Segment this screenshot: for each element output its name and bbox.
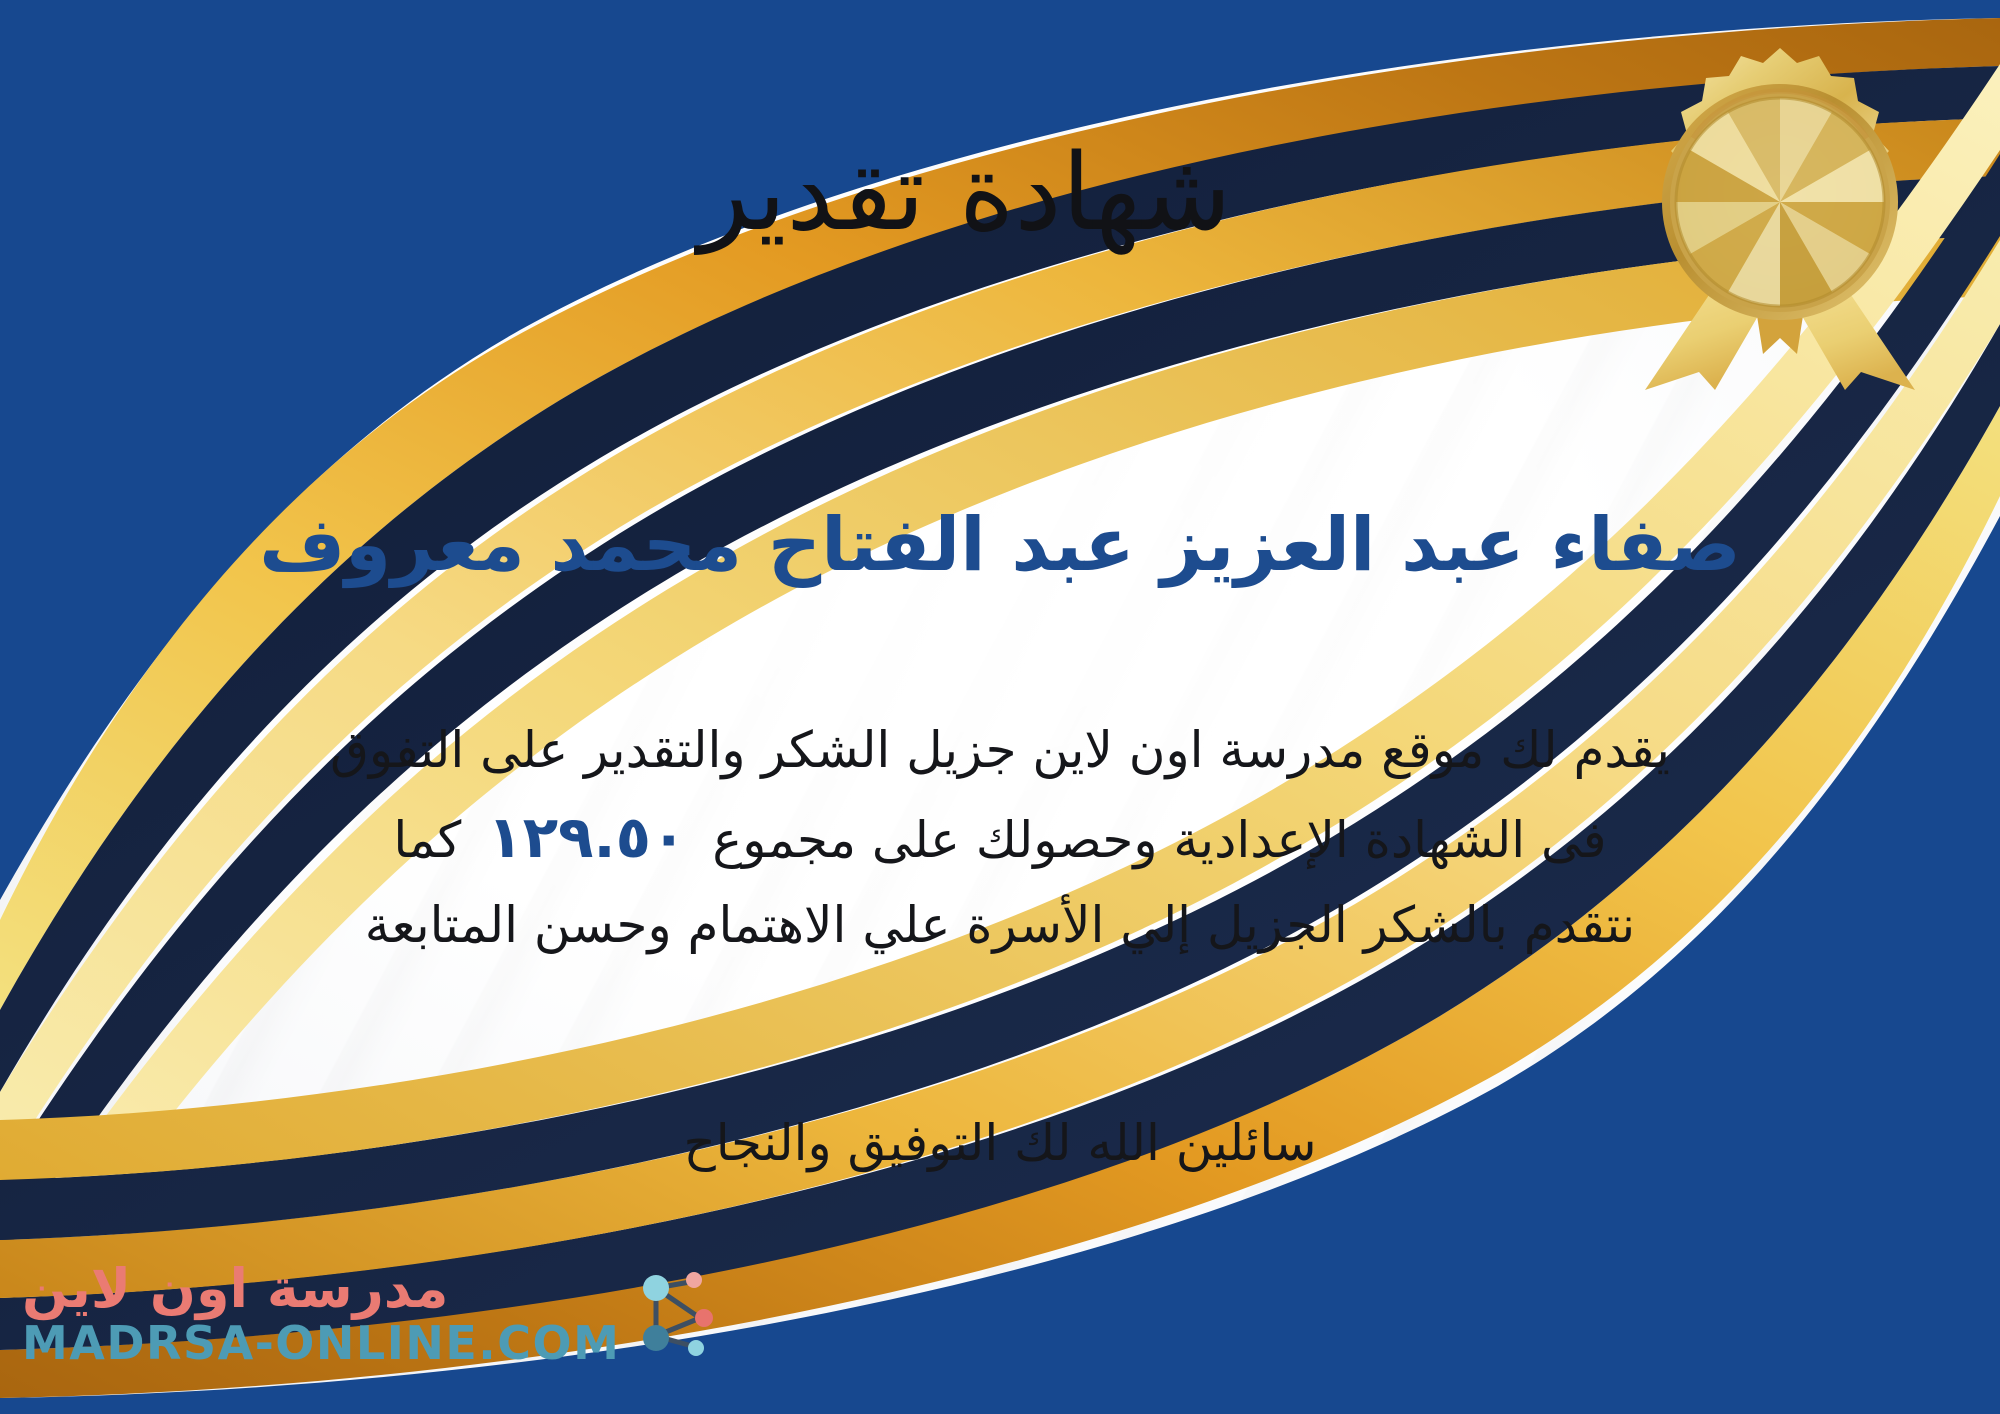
- citation-line-1: يقدم لك موقع مدرسة اون لاين جزيل الشكر و…: [60, 715, 1940, 786]
- site-logo-text: مدرسة اون لاين MADRSA-ONLINE.COM: [22, 1262, 620, 1366]
- citation-line-2: فى الشهادة الإعدادية وحصولك على مجموع١٢٩…: [60, 796, 1940, 878]
- citation-line-2-prefix: فى الشهادة الإعدادية وحصولك على مجموع: [712, 811, 1606, 869]
- recipient-name: صفاء عبد العزيز عبد الفتاح محمد معروف: [40, 500, 1960, 590]
- closing-wish: سائلين الله لك التوفيق والنجاح: [60, 1110, 1940, 1178]
- site-logo-arabic: مدرسة اون لاين: [22, 1262, 448, 1316]
- page-title: شهادة تقدير: [0, 130, 2000, 255]
- citation-line-2-suffix: كما: [393, 811, 461, 869]
- certificate-content: شهادة تقدير صفاء عبد العزيز عبد الفتاح م…: [0, 0, 2000, 1414]
- certificate-canvas: شهادة تقدير صفاء عبد العزيز عبد الفتاح م…: [0, 0, 2000, 1414]
- site-logo-website: MADRSA-ONLINE.COM: [22, 1320, 620, 1366]
- site-logo[interactable]: مدرسة اون لاين MADRSA-ONLINE.COM: [22, 1262, 726, 1366]
- network-nodes-icon: [630, 1266, 726, 1362]
- citation-line-3: نتقدم بالشكر الجزيل إلي الأسرة علي الاهت…: [60, 890, 1940, 961]
- citation-text: يقدم لك موقع مدرسة اون لاين جزيل الشكر و…: [60, 715, 1940, 961]
- total-grade-value: ١٢٩.٥٠: [461, 803, 712, 871]
